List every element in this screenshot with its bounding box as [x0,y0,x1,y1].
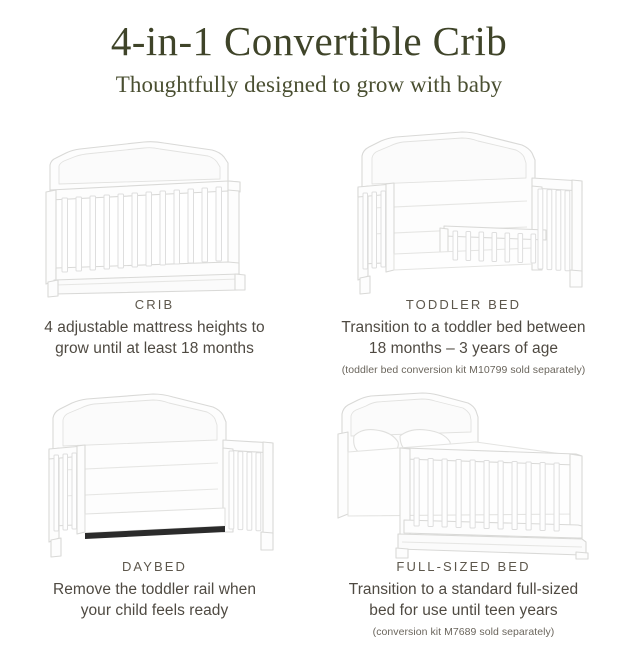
stage-label: CRIB [0,296,309,313]
stage-fine-print: (toddler bed conversion kit M10799 sold … [309,363,618,378]
page-title: 4-in-1 Convertible Crib [0,18,618,64]
stage-card-crib: CRIB 4 adjustable mattress heights to gr… [0,130,309,392]
page-subtitle: Thoughtfully designed to grow with baby [0,70,618,100]
stage-caption: DAYBED Remove the toddler rail when your… [0,558,309,621]
crib-illustration [0,130,309,298]
stage-label: DAYBED [0,558,309,575]
daybed-illustration [0,392,309,560]
stage-card-full-sized-bed: FULL-SIZED BED Transition to a standard … [309,392,618,654]
stage-caption: CRIB 4 adjustable mattress heights to gr… [0,296,309,359]
stage-desc-line1: Transition to a toddler bed between [309,318,618,339]
stages-grid: CRIB 4 adjustable mattress heights to gr… [0,130,618,654]
stage-desc-line2: 18 months – 3 years of age [309,339,618,360]
header: 4-in-1 Convertible Crib Thoughtfully des… [0,0,618,100]
full-sized-bed-illustration [309,392,618,560]
stage-fine-print: (conversion kit M7689 sold separately) [309,625,618,640]
stage-desc-line2: your child feels ready [0,601,309,622]
stage-desc-line2: bed for use until teen years [309,601,618,622]
stage-label: TODDLER BED [309,296,618,313]
stage-desc-line1: Transition to a standard full-sized [309,580,618,601]
stage-caption: FULL-SIZED BED Transition to a standard … [309,558,618,640]
stage-desc-line1: Remove the toddler rail when [0,580,309,601]
stage-desc-line1: 4 adjustable mattress heights to [0,318,309,339]
stage-desc-line2: grow until at least 18 months [0,339,309,360]
stage-card-daybed: DAYBED Remove the toddler rail when your… [0,392,309,654]
toddler-bed-illustration [309,130,618,298]
stage-caption: TODDLER BED Transition to a toddler bed … [309,296,618,378]
stage-label: FULL-SIZED BED [309,558,618,575]
infographic-page: 4-in-1 Convertible Crib Thoughtfully des… [0,0,618,655]
stage-card-toddler-bed: TODDLER BED Transition to a toddler bed … [309,130,618,392]
